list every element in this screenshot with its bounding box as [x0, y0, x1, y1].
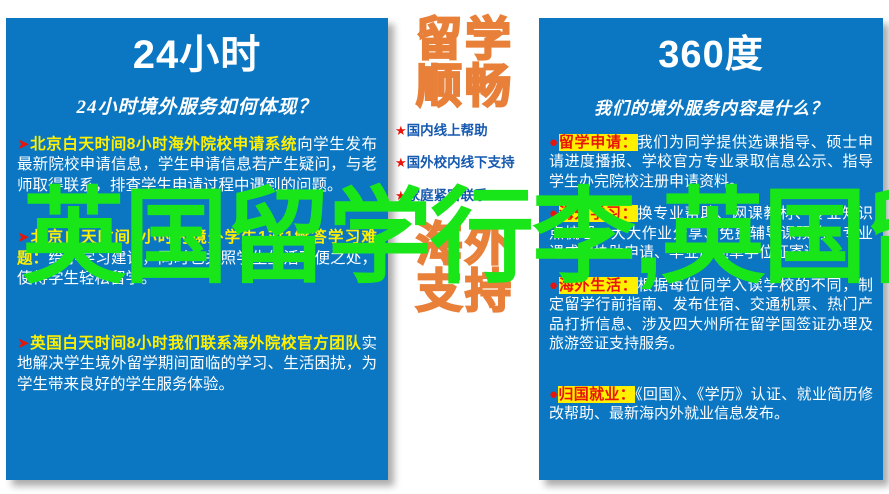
right-panel-body: ●留学申请：我们为同学提供选课指导、硕士申请进度播报、学校官方专业录取信息公示、… — [539, 133, 883, 424]
left-block-3: ➤英国白天时间8小时我们联系海外院校官方团队实地解决学生境外留学期间面临的学习、… — [17, 334, 377, 395]
dot-bullet-icon: ● — [549, 386, 558, 403]
star-icon: ★ — [395, 123, 407, 138]
mid-list-item-label: 国外校内线下支持 — [407, 155, 515, 170]
dot-bullet-icon: ● — [549, 134, 559, 151]
right-block-3-lead: 海外生活： — [559, 277, 638, 294]
mid-list-item: ★国外校内线下支持 — [395, 156, 538, 170]
mid-heading-bottom: 海外 支持 — [392, 221, 538, 315]
star-icon: ★ — [395, 188, 407, 203]
star-icon: ★ — [395, 155, 407, 170]
right-panel-subtitle: 我们的境外服务内容是什么？ — [539, 94, 883, 119]
right-block-2: ●海外学习：换专业帮助、网课教材、专业知识点梳理、大大作业分享、免费辅导课预约、… — [549, 204, 873, 263]
right-block-2-lead: 海外学习： — [559, 205, 638, 222]
mid-heading-top: 留学 顺畅 — [392, 16, 538, 110]
dot-bullet-icon: ● — [549, 205, 559, 222]
arrow-bullet-icon: ➤ — [17, 229, 30, 246]
left-block-2-body: 给予学习建议，同时也关照学生生活不便之处，使得学生轻松留学。 — [17, 250, 377, 287]
mid-list-item: ★国内线上帮助 — [395, 124, 538, 138]
middle-column: 留学 顺畅 ★国内线上帮助 ★国外校内线下支持 ★家庭紧密联系 海外 支持 — [392, 10, 538, 484]
mid-list-item-label: 国内线上帮助 — [407, 123, 488, 138]
arrow-bullet-icon: ➤ — [17, 136, 30, 153]
left-panel-subtitle: 24小时境外服务如何体现？ — [6, 92, 388, 119]
spacer — [17, 304, 377, 334]
mid-feature-list: ★国内线上帮助 ★国外校内线下支持 ★家庭紧密联系 — [392, 124, 538, 203]
right-block-4-lead: 归国就业： — [558, 386, 635, 403]
mid-list-item-label: 家庭紧密联系 — [407, 188, 488, 203]
left-panel-body: ➤北京白天时间8小时海外院校申请系统向学生发布最新院校申请信息，学生申请信息若产… — [6, 135, 388, 395]
right-panel-title: 360度 — [539, 34, 883, 78]
mid-heading-bottom-line-2: 支持 — [392, 268, 538, 315]
right-block-4: ●归国就业：《回国》、《学历》认证、就业简历修改帮助、最新海内外就业信息发布。 — [549, 385, 873, 424]
poster-canvas: 24小时 24小时境外服务如何体现？ ➤北京白天时间8小时海外院校申请系统向学生… — [0, 0, 889, 494]
left-block-2: ➤北京白天时间8小时为境外学生1对1解答学习难题：给予学习建议，同时也关照学生生… — [17, 228, 377, 289]
spacer — [17, 210, 377, 228]
right-block-1-lead: 留学申请： — [559, 134, 638, 151]
mid-list-item: ★家庭紧密联系 — [395, 189, 538, 203]
right-block-3: ●海外生活：根据每位同学入读学校的不同，制定留学行前指南、发布住宿、交通机票、热… — [549, 276, 873, 354]
arrow-bullet-icon: ➤ — [17, 335, 30, 352]
mid-heading-bottom-line-1: 海外 — [392, 221, 538, 268]
mid-heading-top-line-1: 留学 — [392, 16, 538, 63]
spacer — [549, 367, 873, 385]
left-block-1-lead: 北京白天时间8小时海外院校申请系统 — [30, 136, 298, 153]
dot-bullet-icon: ● — [549, 277, 559, 294]
mid-heading-top-line-2: 顺畅 — [392, 63, 538, 110]
left-panel-title: 24小时 — [6, 32, 388, 78]
left-block-3-lead: 英国白天时间8小时我们联系海外院校官方团队 — [30, 335, 362, 352]
left-info-panel: 24小时 24小时境外服务如何体现？ ➤北京白天时间8小时海外院校申请系统向学生… — [6, 18, 388, 480]
right-info-panel: 360度 我们的境外服务内容是什么？ ●留学申请：我们为同学提供选课指导、硕士申… — [539, 18, 883, 480]
left-block-1: ➤北京白天时间8小时海外院校申请系统向学生发布最新院校申请信息，学生申请信息若产… — [17, 135, 377, 196]
right-block-1: ●留学申请：我们为同学提供选课指导、硕士申请进度播报、学校官方专业录取信息公示、… — [549, 133, 873, 192]
